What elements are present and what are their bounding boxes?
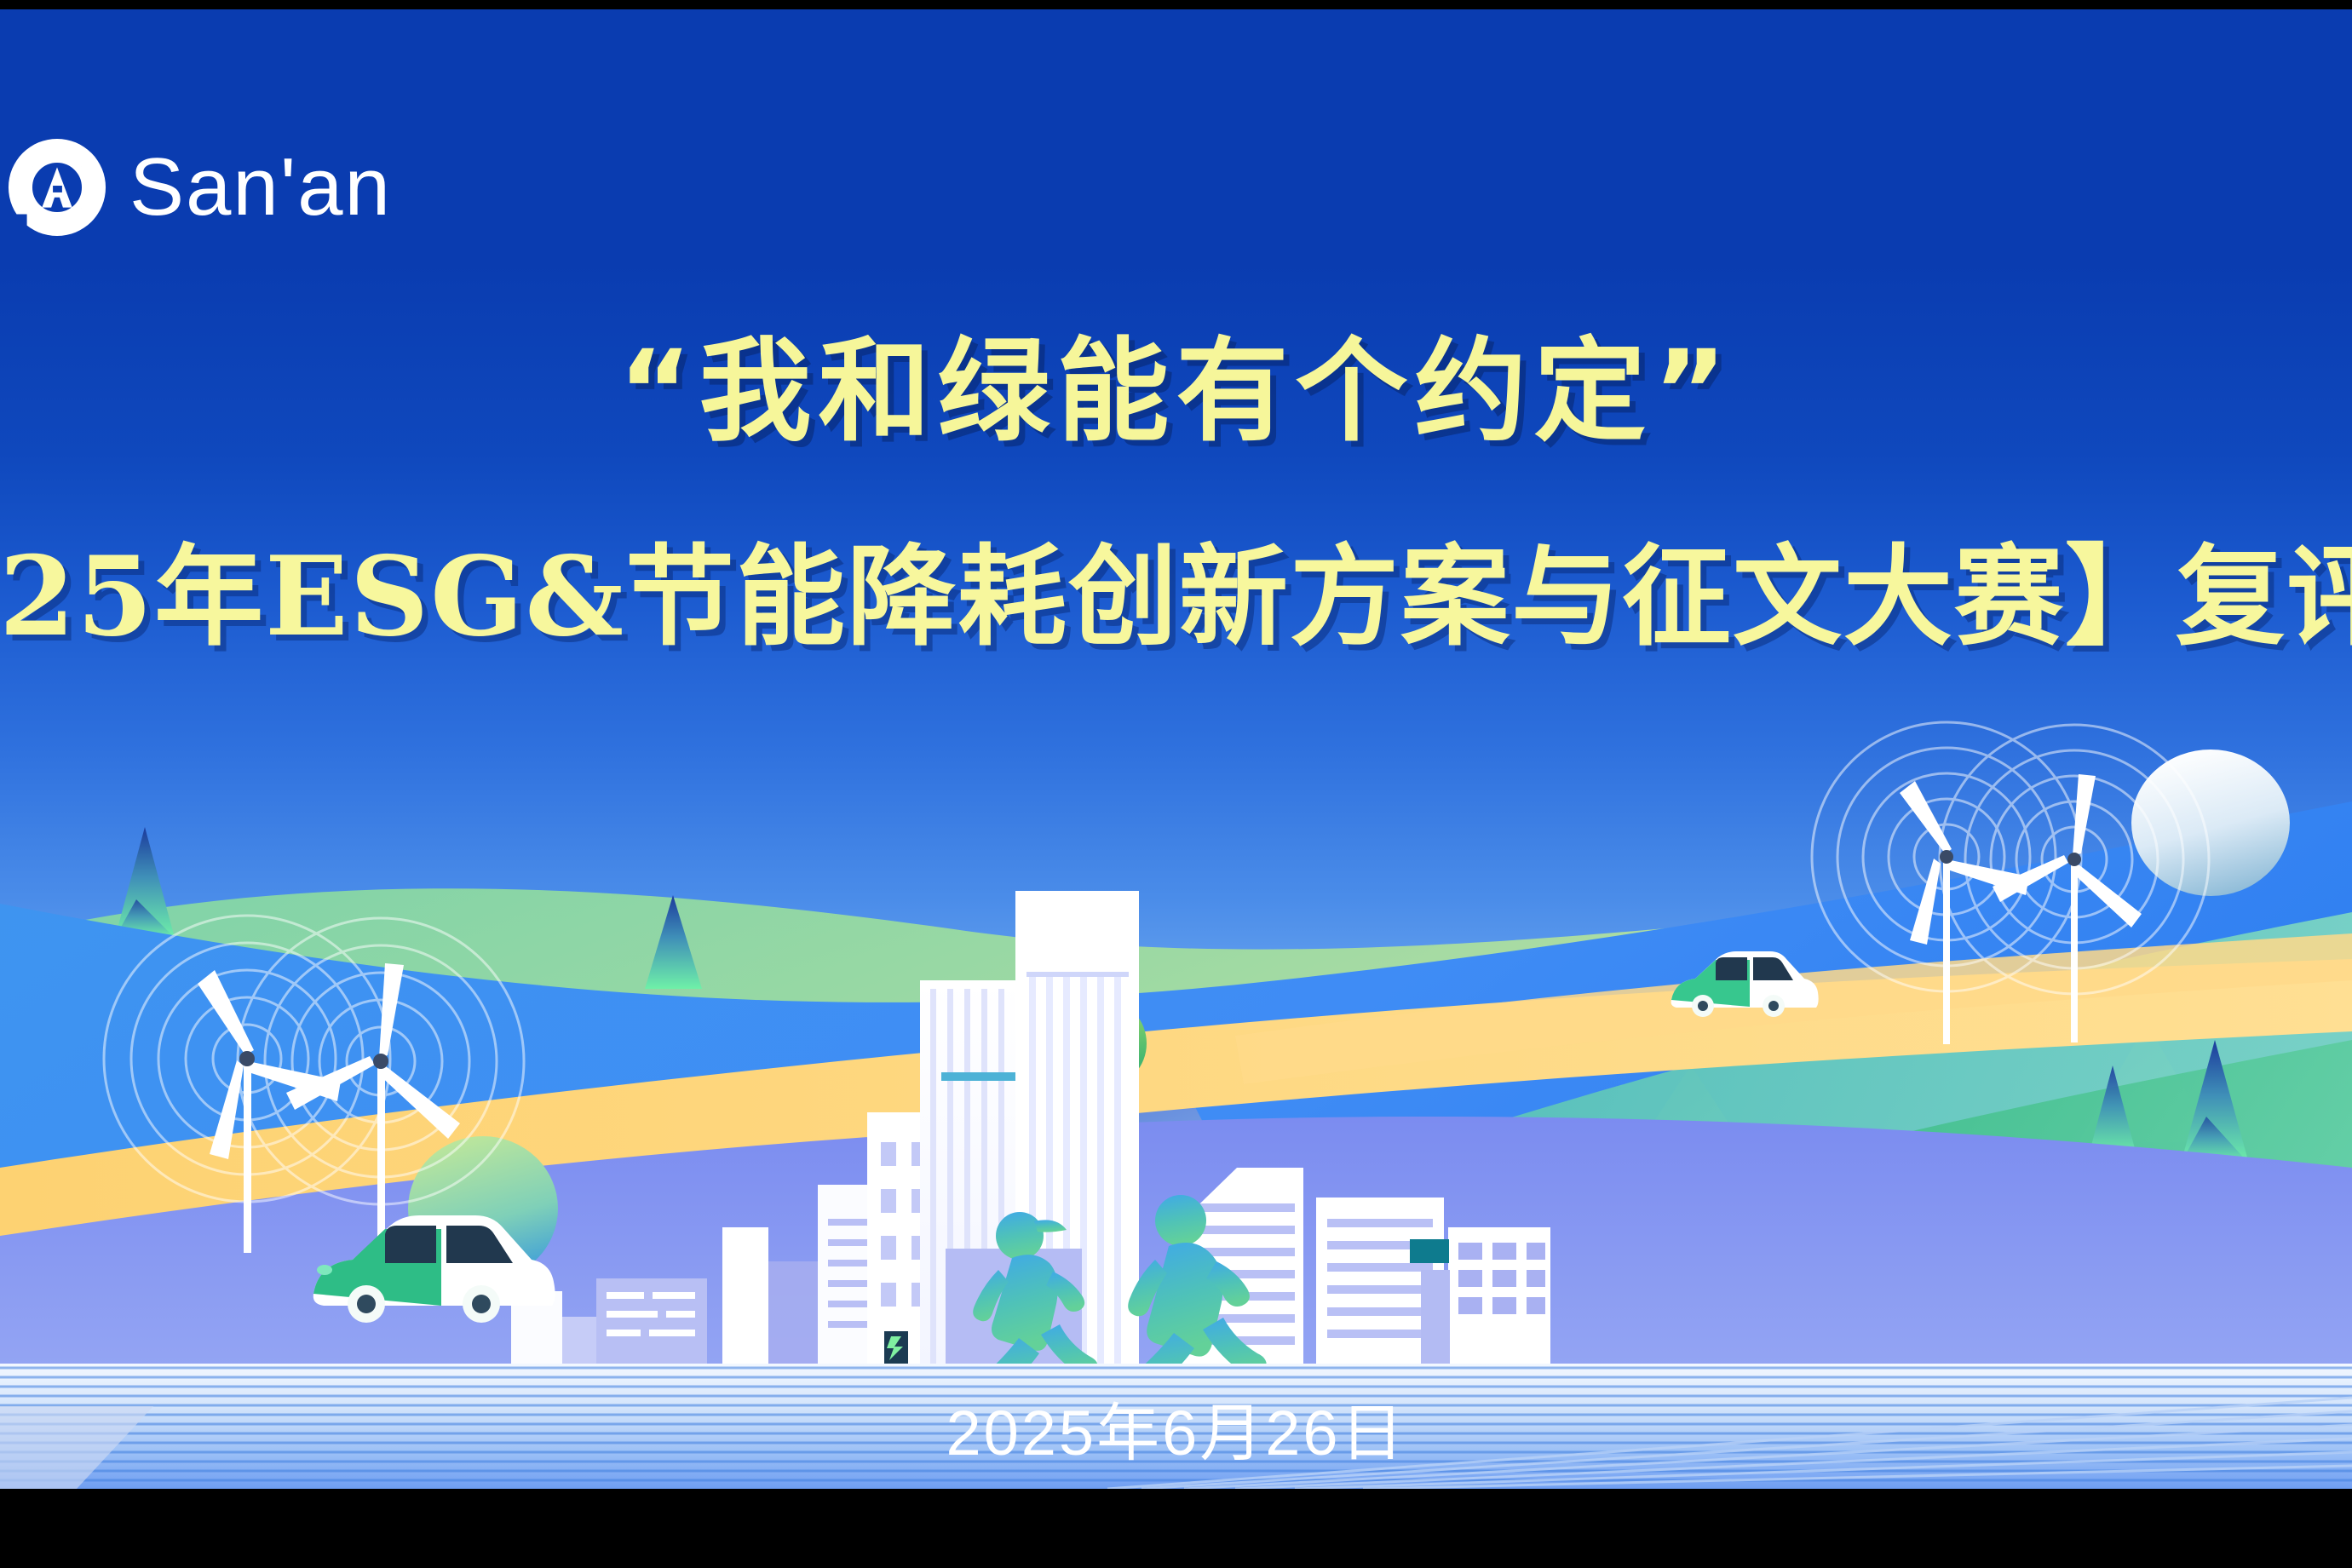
letterbox-bottom [0,1489,2352,1568]
poster-date: 2025年6月26日 [0,1382,2352,1473]
brand-logo[interactable]: San'an [7,137,392,238]
letterbox-top [0,0,2352,9]
poster-canvas: San'an “我和绿能有个约定” 【2025年ESG&节能降耗创新方案与征文大… [0,0,2352,1568]
poster-subheadline: 【2025年ESG&节能降耗创新方案与征文大赛】复评会议 [0,537,2352,658]
poster-headline: “我和绿能有个约定” [0,326,2352,459]
poster-artwork: San'an “我和绿能有个约定” 【2025年ESG&节能降耗创新方案与征文大… [0,9,2352,1489]
brand-name: San'an [129,146,392,228]
sanan-circle-a-logo-icon [7,137,107,238]
